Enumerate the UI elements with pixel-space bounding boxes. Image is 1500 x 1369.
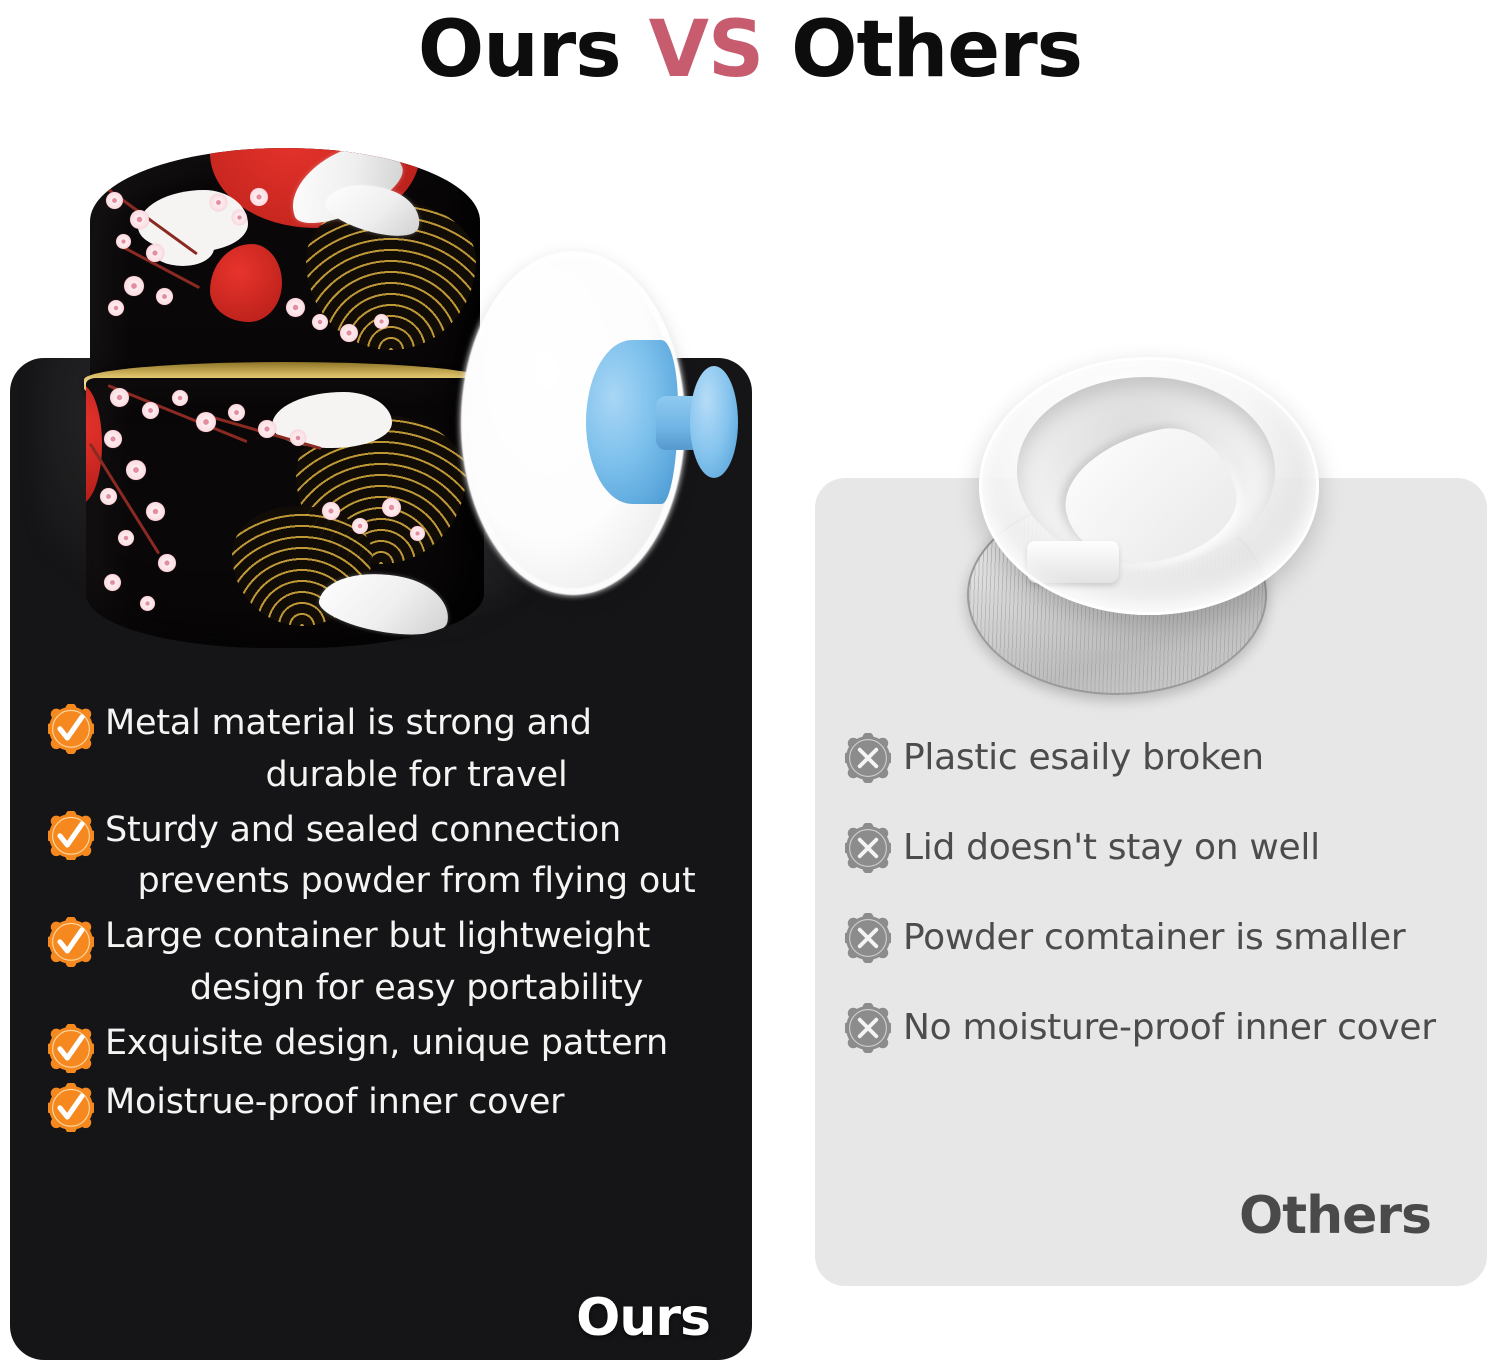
- check-badge-icon: [48, 917, 94, 967]
- list-item-label: Sturdy and sealed connection prevents po…: [105, 805, 728, 909]
- list-item: Metal material is strong and durable for…: [48, 698, 728, 802]
- list-item: Moistrue-proof inner cover: [48, 1077, 728, 1133]
- puff-blue-handle: [586, 340, 738, 504]
- cross-badge-icon: [845, 823, 891, 873]
- ours-feature-list: Metal material is strong and durable for…: [48, 698, 728, 1133]
- tin-lid: [90, 148, 480, 393]
- others-panel-label: Others: [1239, 1186, 1431, 1246]
- list-item: Exquisite design, unique pattern: [48, 1018, 728, 1074]
- check-badge-icon: [48, 811, 94, 861]
- title-ours-word: Ours: [418, 11, 621, 89]
- list-item: Plastic esaily broken: [845, 733, 1475, 783]
- ours-panel-label: Ours: [576, 1288, 710, 1348]
- comparison-title: Ours VS Others: [0, 0, 1500, 100]
- cross-badge-icon: [845, 913, 891, 963]
- list-item: Lid doesn't stay on well: [845, 823, 1475, 873]
- others-product-image: [955, 345, 1335, 705]
- ours-product-image: [52, 140, 522, 660]
- check-badge-icon: [48, 1083, 94, 1133]
- list-item: Powder comtainer is smaller: [845, 913, 1475, 963]
- tin-body: [86, 378, 484, 648]
- list-item: Large container but lightweight design f…: [48, 911, 728, 1015]
- list-item-label: Exquisite design, unique pattern: [105, 1018, 728, 1070]
- plastic-case-rim: [979, 357, 1319, 615]
- title-others-word: Others: [791, 11, 1082, 89]
- list-item-label: Lid doesn't stay on well: [903, 827, 1320, 868]
- list-item: No moisture-proof inner cover: [845, 1003, 1475, 1053]
- list-item-label: Moistrue-proof inner cover: [105, 1077, 728, 1129]
- list-item-label: Powder comtainer is smaller: [903, 917, 1405, 958]
- cross-badge-icon: [845, 1003, 891, 1053]
- list-item-label: Plastic esaily broken: [903, 737, 1264, 778]
- list-item-label: Metal material is strong and durable for…: [105, 698, 728, 802]
- title-vs-word: VS: [649, 11, 764, 89]
- check-badge-icon: [48, 704, 94, 754]
- check-badge-icon: [48, 1024, 94, 1074]
- others-drawback-list: Plastic esaily broken Lid doesn't stay o…: [845, 733, 1475, 1053]
- cross-badge-icon: [845, 733, 891, 783]
- powder-puff-image: [468, 248, 736, 628]
- list-item-label: No moisture-proof inner cover: [903, 1007, 1436, 1048]
- list-item: Sturdy and sealed connection prevents po…: [48, 805, 728, 909]
- list-item-label: Large container but lightweight design f…: [105, 911, 728, 1015]
